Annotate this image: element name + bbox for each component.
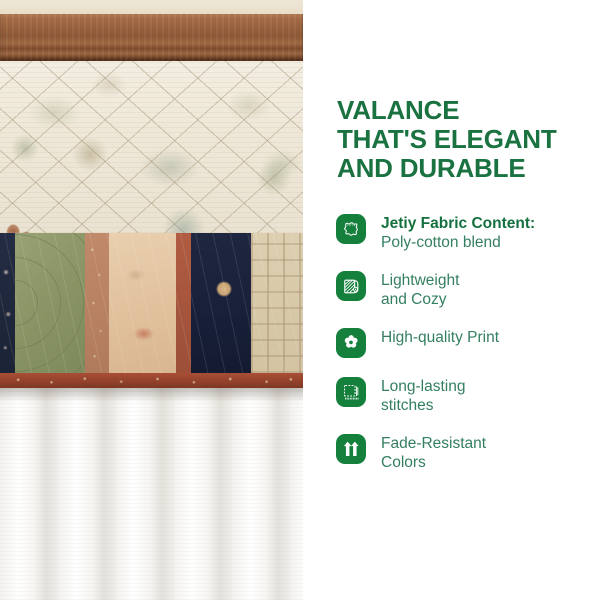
patch-block-rust-strip [176, 233, 191, 373]
floral-sprig [70, 137, 110, 171]
list-item: Long-lasting stitches [336, 375, 586, 415]
cream-quilted-panel [0, 61, 303, 233]
patch-block-plaid [251, 233, 303, 373]
list-item-label: High-quality Print [381, 326, 499, 347]
floral-sprig [255, 161, 293, 195]
white-sheer-curtain [0, 388, 303, 600]
fabric-roll-icon [336, 271, 366, 301]
stitches-icon [336, 377, 366, 407]
feature-list: Jetiy Fabric Content: Poly-cotton blend … [336, 212, 586, 472]
content-panel: VALANCE THAT'S ELEGANT AND DURABLE Jetiy… [303, 0, 600, 600]
product-infographic: VALANCE THAT'S ELEGANT AND DURABLE Jetiy… [0, 0, 600, 600]
flower-icon [336, 328, 366, 358]
patch-block-floral-strip [85, 233, 109, 373]
page-title: VALANCE THAT'S ELEGANT AND DURABLE [337, 96, 557, 183]
list-item-label: Lightweight and Cozy [381, 269, 459, 309]
list-item-lead-suffix: : [530, 215, 535, 232]
list-item-label: Fade-Resistant Colors [381, 432, 486, 472]
patch-block-peach [109, 233, 176, 373]
list-item-label: Jetiy Fabric Content: Poly-cotton blend [381, 212, 535, 252]
list-item: Fade-Resistant Colors [336, 432, 586, 472]
product-photo [0, 0, 303, 600]
list-item: Jetiy Fabric Content: Poly-cotton blend [336, 212, 586, 252]
list-item: Lightweight and Cozy [336, 269, 586, 309]
list-item-lead: Jetiy Fabric Content [381, 215, 530, 232]
floral-sprig [10, 133, 40, 163]
up-arrows-icon [336, 434, 366, 464]
rust-floral-binding [0, 373, 303, 388]
fabric-swatch-icon [336, 214, 366, 244]
wooden-curtain-rod [0, 14, 303, 61]
patch-block-navy-floral [0, 233, 15, 373]
list-item: High-quality Print [336, 326, 586, 358]
list-item-label: Long-lasting stitches [381, 375, 465, 415]
list-item-text: Poly-cotton blend [381, 234, 501, 251]
patch-block-sage [15, 233, 85, 373]
curtain-shadow [0, 388, 303, 402]
patch-block-navy-flower [191, 233, 252, 373]
patchwork-block-band [0, 233, 303, 373]
